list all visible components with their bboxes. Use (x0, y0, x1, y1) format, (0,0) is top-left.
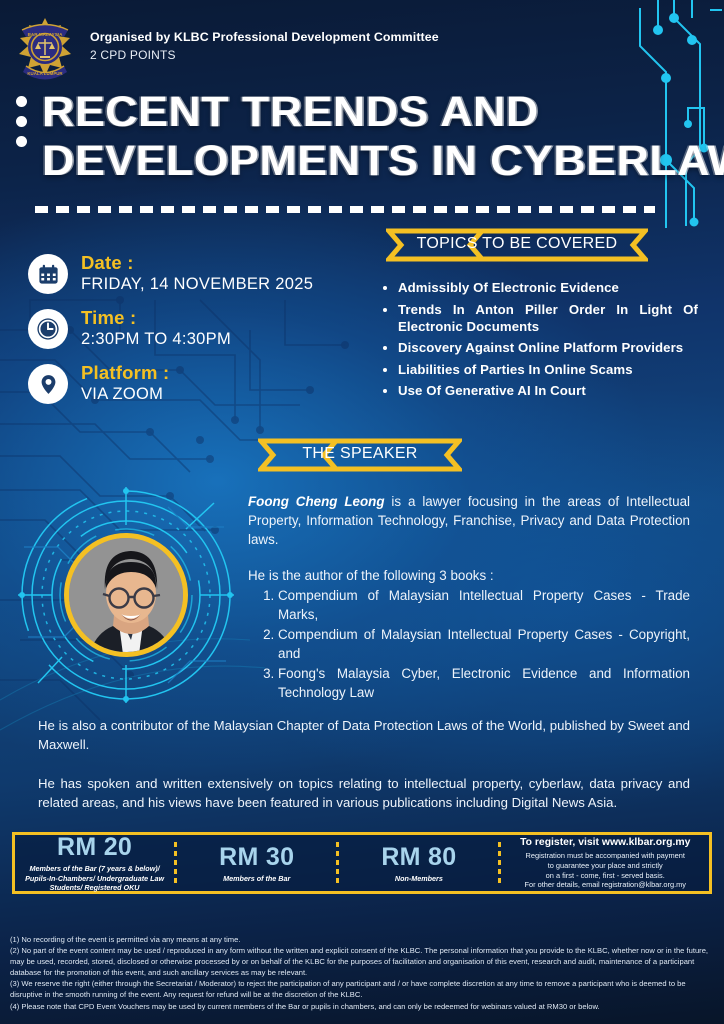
topics-section: TOPICS TO BE COVERED Admissibly Of Elect… (378, 228, 698, 404)
speaker-photo-block (18, 487, 234, 703)
registration-email[interactable]: For other details, email registration@kl… (505, 880, 705, 890)
book-item: Compendium of Malaysian Intellectual Pro… (278, 586, 690, 624)
price-description: Non-Members (343, 874, 494, 884)
speaker-closing-paragraphs: He is also a contributor of the Malaysia… (38, 716, 690, 812)
detail-row-date: Date : FRIDAY, 14 NOVEMBER 2025 (28, 252, 358, 294)
clock-icon (28, 309, 68, 349)
books-list: Compendium of Malaysian Intellectual Pro… (248, 586, 690, 702)
registration-url[interactable]: To register, visit www.klbar.org.my (505, 836, 705, 849)
registration-note-2: to guarantee your place and strictly (505, 861, 705, 871)
pricing-box: RM 20 Members of the Bar (7 years & belo… (12, 832, 712, 894)
organiser-text: Organised by KLBC Professional Developme… (90, 30, 439, 44)
closing-paragraph-1: He is also a contributor of the Malaysia… (38, 716, 690, 754)
speaker-intro: Foong Cheng Leong is a lawyer focusing i… (248, 492, 690, 549)
topic-item: Admissibly Of Electronic Evidence (398, 279, 698, 296)
detail-value-time: 2:30PM TO 4:30PM (81, 329, 231, 349)
registration-info[interactable]: To register, visit www.klbar.org.my Regi… (501, 836, 709, 889)
title-divider (35, 206, 655, 213)
topics-banner: TOPICS TO BE COVERED (386, 228, 648, 262)
registration-note-3: on a first - come, first - served basis. (505, 871, 705, 881)
header: BAR MALAYSIA KUALA LUMPUR Organised by K… (14, 14, 439, 84)
detail-label-date: Date : (81, 252, 313, 273)
price-description: Members of the Bar (7 years & below)/ Pu… (19, 864, 170, 893)
price-amount: RM 20 (19, 833, 170, 861)
disclaimer-item: (1) No recording of the event is permitt… (10, 934, 716, 945)
title-line-2: DEVELOPMENTS IN CYBERLAW (42, 137, 724, 186)
disclaimer-item: (3) We reserve the right (either through… (10, 978, 716, 1000)
detail-row-platform: Platform : VIA ZOOM (28, 362, 358, 404)
title-dots-decoration (16, 96, 27, 147)
topic-item: Liabilities of Parties In Online Scams (398, 361, 698, 378)
svg-text:KUALA LUMPUR: KUALA LUMPUR (27, 71, 63, 76)
closing-paragraph-2: He has spoken and written extensively on… (38, 774, 690, 812)
topic-item: Discovery Against Online Platform Provid… (398, 339, 698, 356)
klbc-crest-icon: BAR MALAYSIA KUALA LUMPUR (14, 14, 76, 84)
svg-text:BAR MALAYSIA: BAR MALAYSIA (28, 32, 63, 37)
price-tier-1: RM 20 Members of the Bar (7 years & belo… (15, 833, 174, 893)
poster-background: BAR MALAYSIA KUALA LUMPUR Organised by K… (0, 0, 724, 1024)
topics-banner-label: TOPICS TO BE COVERED (386, 228, 648, 262)
disclaimer-section: (1) No recording of the event is permitt… (10, 934, 716, 1012)
detail-value-date: FRIDAY, 14 NOVEMBER 2025 (81, 274, 313, 294)
topics-list: Admissibly Of Electronic Evidence Trends… (378, 279, 698, 399)
topic-item: Trends In Anton Piller Order In Light Of… (398, 301, 698, 335)
disclaimer-item: (2) No part of the event content may be … (10, 945, 716, 978)
speaker-banner-label: THE SPEAKER (258, 438, 462, 472)
detail-label-time: Time : (81, 307, 231, 328)
calendar-icon (28, 254, 68, 294)
poster-title: RECENT TRENDS AND DEVELOPMENTS IN CYBERL… (10, 88, 700, 186)
location-pin-icon (28, 364, 68, 404)
book-item: Foong's Malaysia Cyber, Electronic Evide… (278, 664, 690, 702)
speaker-banner: THE SPEAKER (258, 438, 462, 472)
topic-item: Use Of Generative AI In Court (398, 382, 698, 399)
disclaimer-item: (4) Please note that CPD Event Vouchers … (10, 1001, 716, 1012)
price-description: Members of the Bar (181, 874, 332, 884)
title-line-1: RECENT TRENDS AND (42, 88, 724, 137)
books-intro: He is the author of the following 3 book… (248, 566, 690, 585)
speaker-description: Foong Cheng Leong is a lawyer focusing i… (248, 492, 690, 703)
price-amount: RM 80 (343, 843, 494, 871)
registration-note-1: Registration must be accompanied with pa… (505, 851, 705, 861)
event-details: Date : FRIDAY, 14 NOVEMBER 2025 Time : 2… (28, 252, 358, 417)
speaker-avatar (64, 533, 188, 657)
detail-label-platform: Platform : (81, 362, 169, 383)
detail-value-platform: VIA ZOOM (81, 384, 169, 404)
speaker-name: Foong Cheng Leong (248, 494, 385, 509)
book-item: Compendium of Malaysian Intellectual Pro… (278, 625, 690, 663)
price-amount: RM 30 (181, 843, 332, 871)
cpd-points-text: 2 CPD POINTS (90, 48, 439, 62)
price-tier-3: RM 80 Non-Members (339, 843, 498, 884)
price-tier-2: RM 30 Members of the Bar (177, 843, 336, 884)
detail-row-time: Time : 2:30PM TO 4:30PM (28, 307, 358, 349)
